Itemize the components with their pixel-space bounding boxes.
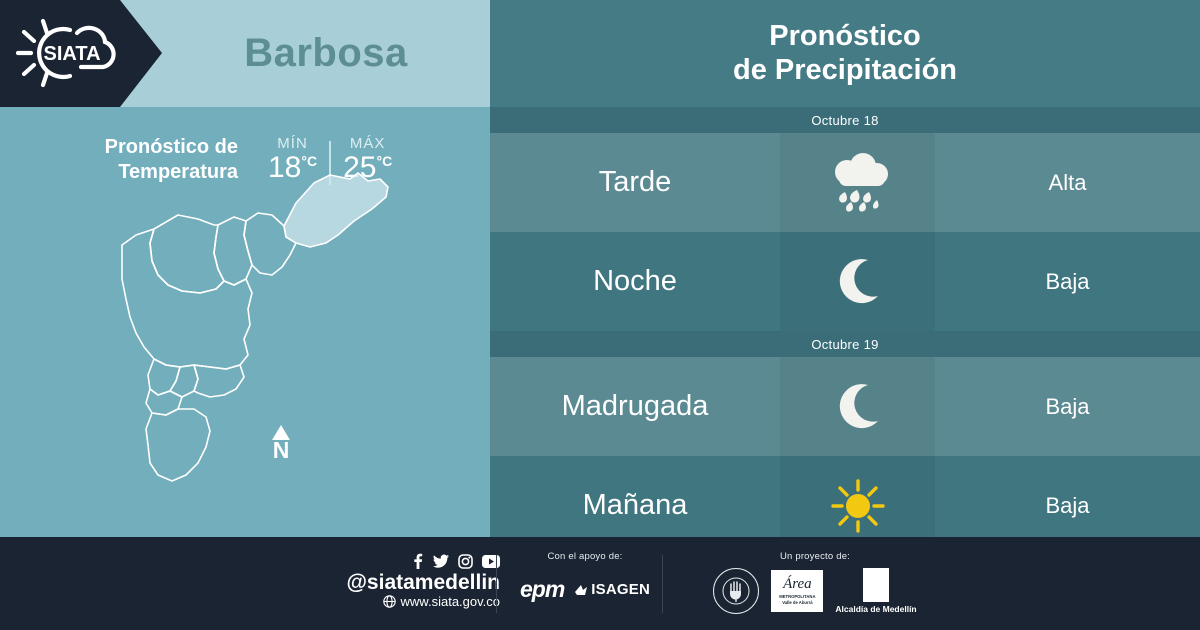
map-region-la-estrella xyxy=(146,389,182,415)
city-title: Barbosa xyxy=(162,0,490,107)
map-region-bello xyxy=(150,215,224,293)
precip-level-noche: Baja xyxy=(935,232,1200,331)
map-region-envigado xyxy=(194,365,244,397)
project-block: Un proyecto de: Área xyxy=(700,551,930,614)
weather-forecast-card: SIATA Barbosa Pronóstico de Temperatura … xyxy=(0,0,1200,630)
isagen-mark-icon xyxy=(574,583,588,597)
map-region-caldas xyxy=(146,409,210,481)
forecast-row-noche: Noche Baja xyxy=(490,232,1200,331)
seal-emblem-icon xyxy=(719,574,753,608)
moon-icon xyxy=(832,381,884,433)
map-panel: Pronóstico de Temperatura MÍN 18°C MÁX xyxy=(0,107,490,537)
period-label-noche: Noche xyxy=(490,232,780,331)
project-caption: Un proyecto de: xyxy=(700,551,930,562)
support-caption: Con el apoyo de: xyxy=(505,551,665,562)
forecast-title-line1: Pronóstico xyxy=(769,20,920,54)
aburra-valley-map xyxy=(58,169,458,519)
alcaldia-label: Alcaldía de Medellín xyxy=(835,604,916,614)
weather-icon-cell-tarde xyxy=(780,133,935,232)
footer-divider-1 xyxy=(496,555,497,613)
precipitation-panel: Pronóstico de Precipitación Octubre 18 T… xyxy=(490,0,1200,537)
instagram-icon[interactable] xyxy=(458,554,473,569)
alcaldia-shield-icon xyxy=(863,568,889,602)
map-region-sabaneta xyxy=(170,365,198,397)
website-url: www.siata.gov.co xyxy=(401,594,500,609)
map-region-medellin xyxy=(122,229,252,369)
logo-wordmark: SIATA xyxy=(43,43,100,65)
area-sub-text: METROPOLITANA Valle de Aburrá xyxy=(779,594,815,605)
area-metropolitana-logo: Área METROPOLITANA Valle de Aburrá xyxy=(771,570,823,612)
alcaldia-logo: Alcaldía de Medellín xyxy=(835,568,916,614)
partner-logos: Área METROPOLITANA Valle de Aburrá Alcal… xyxy=(700,568,930,614)
youtube-icon[interactable] xyxy=(482,555,500,568)
weather-icon-cell-madrugada xyxy=(780,357,935,456)
isagen-logo: ISAGEN xyxy=(574,581,650,598)
area-script-text: Área xyxy=(783,577,812,592)
precip-level-tarde: Alta xyxy=(935,133,1200,232)
moon-icon xyxy=(832,256,884,308)
sponsors-block: Con el apoyo de: epm ISAGEN xyxy=(505,551,665,603)
sun-cloud-icon: SIATA xyxy=(14,14,130,92)
map-region-itagui xyxy=(148,359,180,395)
period-label-tarde: Tarde xyxy=(490,133,780,232)
weather-icon-cell-noche xyxy=(780,232,935,331)
footer: @siatamedellin www.siata.gov.co Con el a… xyxy=(0,537,1200,630)
sun-icon xyxy=(829,477,887,535)
epm-logo: epm xyxy=(520,576,564,603)
date-band-oct18: Octubre 18 xyxy=(490,107,1200,133)
north-label: N xyxy=(272,439,290,462)
temperature-min-label: MÍN xyxy=(268,135,317,152)
isagen-wordmark: ISAGEN xyxy=(591,581,650,598)
facebook-icon[interactable] xyxy=(411,553,424,569)
city-banner: SIATA Barbosa xyxy=(0,0,490,107)
map-region-barbosa xyxy=(284,173,388,247)
forecast-row-madrugada: Madrugada Baja xyxy=(490,357,1200,456)
social-block: @siatamedellin www.siata.gov.co xyxy=(300,553,500,609)
date-band-oct19: Octubre 19 xyxy=(490,331,1200,357)
siata-logo: SIATA xyxy=(14,14,130,92)
left-panel: SIATA Barbosa Pronóstico de Temperatura … xyxy=(0,0,490,537)
website-line[interactable]: www.siata.gov.co xyxy=(300,594,500,609)
temperature-max-unit: °C xyxy=(376,153,392,169)
temperature-min-unit: °C xyxy=(301,153,317,169)
precip-level-madrugada: Baja xyxy=(935,357,1200,456)
rain-cloud-icon xyxy=(821,152,895,214)
forecast-row-tarde: Tarde Alta xyxy=(490,133,1200,232)
forecast-title: Pronóstico de Precipitación xyxy=(490,0,1200,107)
area-sub2: Valle de Aburrá xyxy=(782,600,812,605)
social-icons xyxy=(300,553,500,569)
north-indicator: N xyxy=(272,425,290,462)
footer-divider-2 xyxy=(662,555,663,613)
universidad-seal-icon xyxy=(713,568,759,614)
temperature-title-line1: Pronóstico de xyxy=(105,136,238,158)
temperature-max-label: MÁX xyxy=(343,135,392,152)
sponsor-logos: epm ISAGEN xyxy=(505,576,665,603)
twitter-icon[interactable] xyxy=(433,553,449,569)
period-label-madrugada: Madrugada xyxy=(490,357,780,456)
social-handle[interactable]: @siatamedellin xyxy=(300,571,500,594)
globe-icon xyxy=(383,595,396,608)
forecast-title-line2: de Precipitación xyxy=(733,54,957,88)
map-region-copacabana xyxy=(214,217,252,285)
area-sub1: METROPOLITANA xyxy=(779,594,815,599)
